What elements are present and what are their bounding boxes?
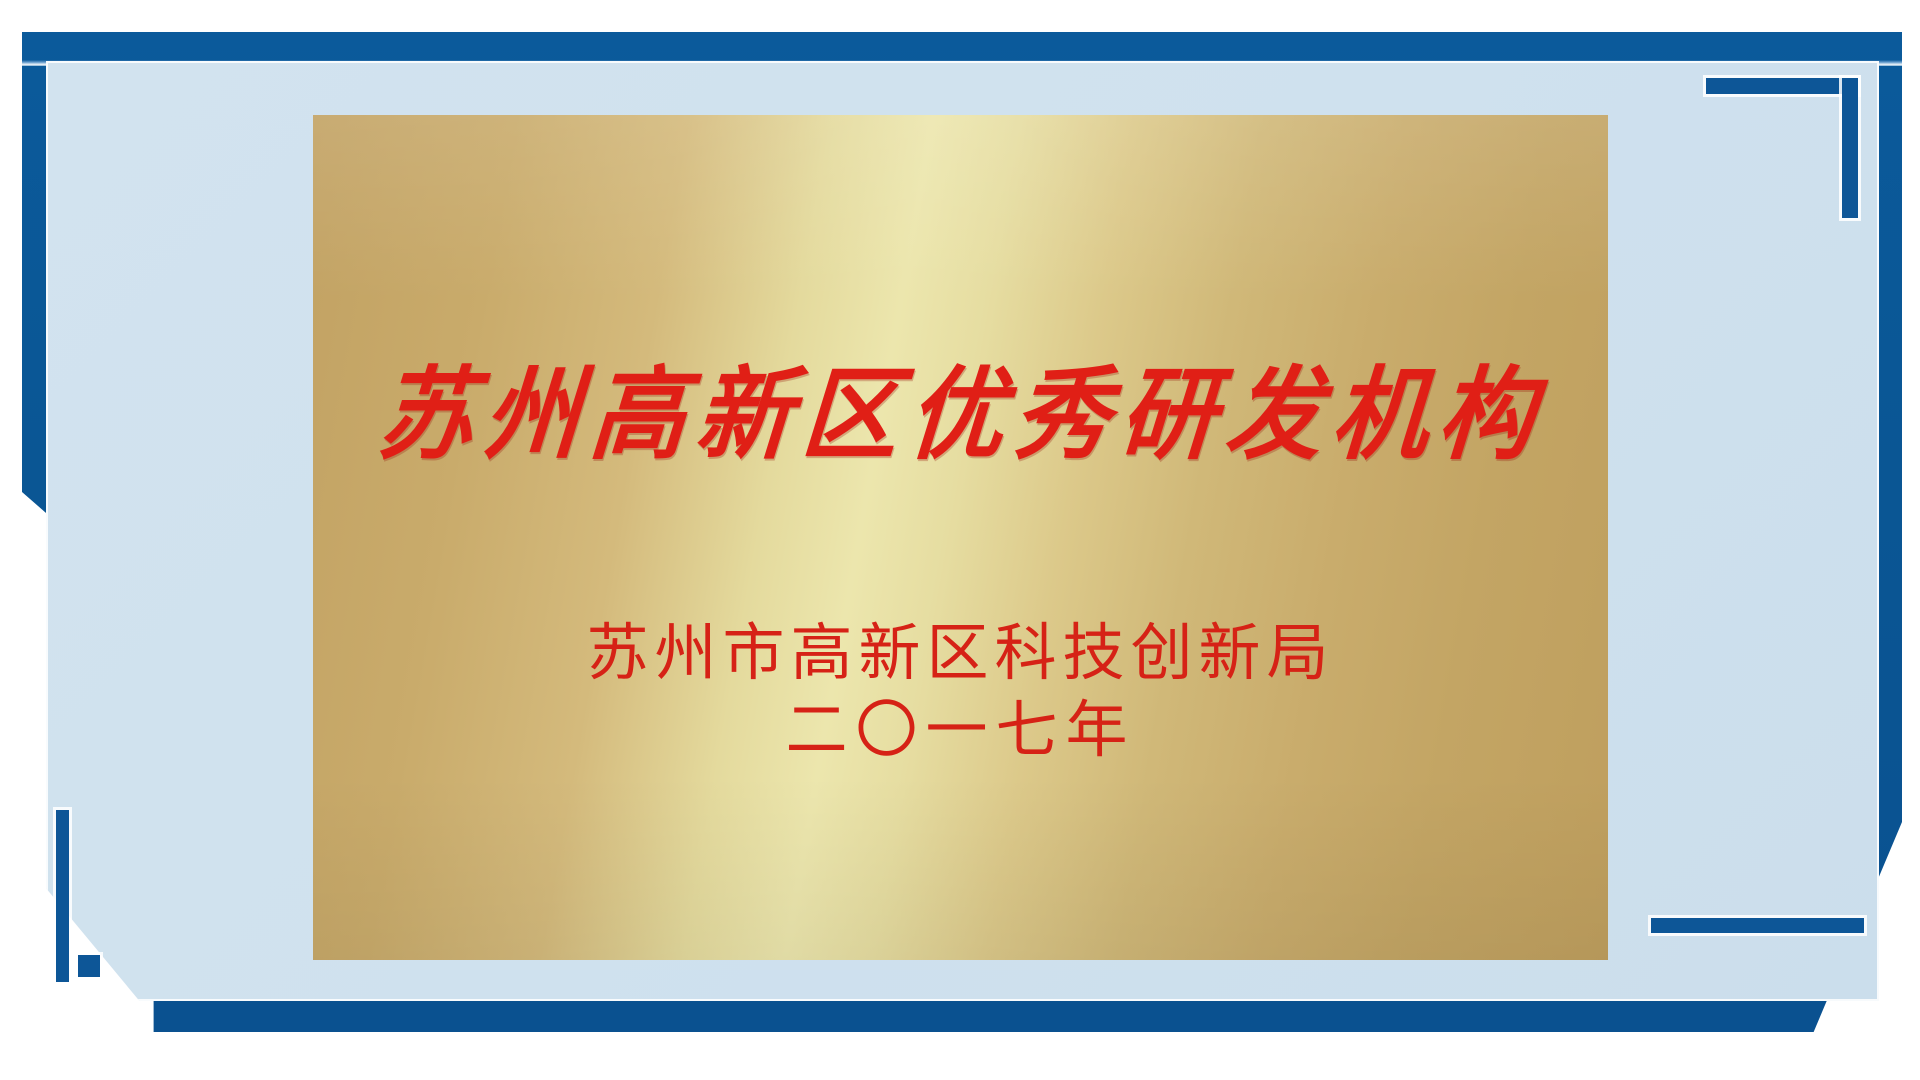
corner-bracket-top-right-horizontal: [1706, 78, 1858, 94]
certificate-stage: 苏州高新区优秀研发机构 苏州市高新区科技创新局 二〇一七年: [0, 0, 1920, 1080]
corner-dot-bottom-left: [78, 955, 100, 977]
corner-bar-bottom-left: [56, 810, 69, 982]
gold-plaque: [313, 115, 1608, 960]
corner-bar-bottom-right: [1651, 918, 1864, 933]
corner-bracket-top-right-vertical: [1842, 78, 1858, 218]
